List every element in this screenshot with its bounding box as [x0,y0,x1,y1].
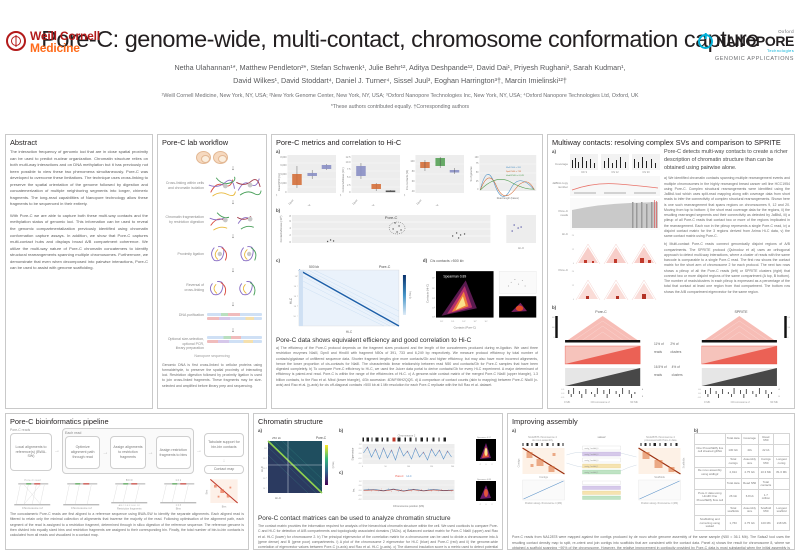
flow-arrow: ↓ [204,268,262,275]
panel-pipeline: Pore-C bioinformatics pipeline Pore-C re… [5,413,249,550]
workflow-step-label-4: DNA purification [162,309,204,318]
svg-text:Contigs: Contigs [539,475,548,479]
cell-3-3: 218 Mb [774,516,790,531]
flow-arrow: ↓ [204,200,262,207]
porec-x-label: Chromosome 2 [591,400,610,404]
svg-text:Contigs: Contigs [517,458,521,467]
multiway-caption-a: a) We identified chromatin contacts span… [664,176,790,239]
cell-1-0: 2,914 [725,467,741,478]
compartment-stats: 11% of reads 2% of clusters 16.5% of rea… [654,310,688,404]
svg-text:DpnII N50 = 733: DpnII N50 = 733 [506,171,522,173]
svg-text:-2: -2 [479,464,481,466]
chart-contact-correlation: d) Cis contacts >500 kb Spearman 0.89 [423,258,538,335]
chart-insulation-correlation: Spearman 0.88 -202 [470,470,498,510]
svg-text:3,000: 3,000 [788,327,790,329]
pipeline-box-5[interactable]: Contact map [204,465,244,474]
svg-text:HindIII: HindIII [368,204,375,206]
svg-text:Hi-C: Hi-C [346,330,353,334]
svg-text:Ins.: Ins. [353,488,356,492]
th-assembly-size-2: Assembly size [741,505,758,516]
svg-text:10⁻⁴: 10⁻⁴ [263,487,267,490]
pipeline-arrow-icon: → [54,428,60,474]
svg-text:A: A [642,388,644,391]
workflow-caption: Genomic DNA is first cross-linked to cel… [162,363,262,389]
row-label-2: Pore-C data using HindIII One ProvethEll… [695,490,726,505]
stat-sprite-B: 4% of clusters [672,363,688,380]
equal-contribution-note: *These authors contributed equally. †Cor… [0,104,800,110]
poster-header: Weill Cornell Medicine Oxford NANOPORE T… [0,26,800,134]
svg-text:-0.05: -0.05 [697,397,701,399]
th-blank-4 [774,479,790,490]
svg-text:8,000: 8,000 [280,156,287,159]
svg-text:10⁻³: 10⁻³ [263,477,267,480]
assembly-stats-table: Total data Coverage Read N50 One Proveth… [694,433,790,531]
author-list: Netha Ulahannan¹*, Matthew Pendleton²*, … [0,62,800,87]
multiway-caption-b: b) Multi-contact Pore-C reads connect ge… [664,242,790,295]
pipeline-arrow-icon: → [196,428,202,474]
jabba-track: JaBbA copy number 4020100 [552,176,660,196]
svg-text:Q-freq: Q-freq [408,291,412,299]
workflow-step: Cross-linking within cells and chromatin… [162,173,262,199]
svg-text:Q-freq: Q-freq [332,461,335,468]
svg-text:Chr 9: Chr 9 [581,171,588,174]
svg-text:1 2 1: 1 2 1 [175,478,181,482]
track-label-porec: Pore-C [552,268,568,302]
coverage-track: Coverage Chr 9Chr 12Chr 20 [552,154,660,174]
table-row: One ProvethEllfy live cell sheared gDNA … [695,445,790,456]
svg-text:Chromosome position (Mb): Chromosome position (Mb) [393,504,424,508]
svg-text:Contacts (Hi-C): Contacts (Hi-C) [425,284,429,303]
chromatin-title: Chromatin structure [254,414,502,428]
panel-chromatin: Chromatin structure a) 250 kb Pore-C [253,413,503,550]
table-header-row: Total data Read N50 Total contacts [695,479,790,490]
table-row: Pore-C data using HindIII One ProvethEll… [695,490,790,505]
svg-text:-0.05: -0.05 [561,397,565,399]
table-row: De novo assembly using wtdbg2 2,914 2.75… [695,467,790,478]
svg-text:6: 6 [289,219,291,223]
svg-text:Chr 12: Chr 12 [611,171,619,174]
svg-text:500 kb: 500 kb [309,265,319,269]
svg-text:10⁰: 10⁰ [295,275,298,278]
th-blank-5 [695,505,726,516]
pipeline-box-2[interactable]: Assign alignments to restriction fragmen… [110,436,145,469]
svg-text:3,000: 3,000 [552,327,555,329]
svg-text:12.5: 12.5 [346,156,351,159]
svg-text:2: 2 [492,504,493,506]
svg-text:0: 0 [788,337,790,339]
svg-text:4,000: 4,000 [280,173,287,176]
chart-read-n50: 02,0004,0006,0008,000 NlaIIIDpnIIHindIII… [276,154,337,206]
tangle-art [207,173,262,199]
flow-arrow: ↓ [204,302,262,309]
svg-text:DpnII: DpnII [352,199,358,206]
svg-text:Contacts/Gbase (10⁶): Contacts/Gbase (10⁶) [279,216,283,243]
cells-illustration [162,151,262,164]
th-coverage: Coverage [741,434,758,445]
svg-text:100: 100 [410,160,415,163]
svg-text:Hi-C: Hi-C [275,496,282,500]
svg-text:Read N50 (bp): Read N50 (bp) [277,173,281,191]
poster-row-bottom: Pore-C bioinformatics pipeline Pore-C re… [0,409,800,550]
th-total-data: Total data [725,434,741,445]
svg-text:salsa2: salsa2 [597,435,606,439]
svg-text:0.0: 0.0 [359,490,363,492]
svg-text:0: 0 [573,263,575,265]
sprite-x-label: Chromosome 2 [731,400,750,404]
svg-text:100: 100 [407,466,411,468]
svg-text:Position along chromosome 4 (M: Position along chromosome 4 (Mb) [641,502,678,505]
th-read-n50: Read N50 [758,434,773,445]
svg-text:6,000: 6,000 [280,164,287,167]
row-label-0: One ProvethEllfy live cell sheared gDNA [695,445,726,456]
loops-open-art [207,275,262,301]
svg-text:Spearman 0.88: Spearman 0.88 [477,479,492,481]
cornell-seal-icon [6,31,26,51]
flow-arrow: ↓ [204,328,262,335]
assembly-title: Improving assembly [508,414,794,428]
diagram-optimized-path: Chromosome ref [59,476,106,510]
nanopore-circle-icon [698,34,713,49]
svg-text:100: 100 [475,157,479,159]
svg-text:24: 24 [572,235,575,237]
chart-cis-contacts: 406080100 NlaIIIDpnIIHindIII Cis contact… [404,154,465,206]
th-blank-0 [695,434,726,445]
nanopore-reads-art [207,335,262,349]
svg-text:Pore-C: Pore-C [385,215,398,220]
svg-text:Pore-C read: Pore-C read [24,478,41,482]
flow-arrow: ↓ [204,166,262,173]
th-scaffold-n50: Scaffold N50 [758,505,773,516]
panel-abstract: Abstract The interaction frequency of ge… [5,134,153,409]
svg-text:75: 75 [476,163,479,165]
svg-text:Bins: Bins [175,507,181,511]
track-label-porec-reads: Pore-C reads [552,210,568,217]
svg-text:10⁵: 10⁵ [432,278,435,280]
svg-text:Scaffolds: Scaffolds [682,457,686,468]
pipeline-arrow-icon: → [148,436,154,469]
svg-text:Bins: Bins [206,489,209,494]
svg-text:B: B [779,396,781,398]
svg-text:25: 25 [476,181,479,183]
pipeline-box-4[interactable]: Tabulate support for bin-bin contacts [204,433,244,457]
svg-text:6,000: 6,000 [788,317,790,319]
svg-text:10¹: 10¹ [432,316,435,319]
track-label-coverage: Coverage [552,162,568,166]
svg-text:4: 4 [289,226,291,230]
res-label: 250 kb [272,436,281,440]
workflow-step: Optional size-selection, optional PCR, l… [162,335,262,351]
cell-2-1: 6.8 kb [741,490,758,505]
svg-text:Position along chromosome 4 (M: Position along chromosome 4 (Mb) [525,502,562,505]
metrics-row-cd: c) 500 kb Pore-C [276,258,538,335]
svg-text:0.6: 0.6 [359,448,363,450]
chromatin-caption-title: Pore-C contact matrices can be used to a… [258,515,498,522]
nanopore-name: NANOPORE [716,34,794,48]
workflow-step: Proximity ligation [162,241,262,267]
svg-text:10⁰: 10⁰ [440,320,443,323]
pipeline-each-read-label: Each read [65,431,191,435]
th-read-n50-2: Read N50 [741,479,758,490]
cell-3-1: 2.75 Gb [741,516,758,531]
weill-cornell-logo: Weill Cornell Medicine [6,30,100,54]
svg-text:7.5: 7.5 [347,168,351,171]
pipeline-box-1[interactable]: Optimize alignment path through read [65,436,100,469]
diagram-bins: 1 2 1 1 2 3 Bins [156,476,203,510]
chromatin-panel-a: a) 250 kb Pore-C [258,428,336,510]
metrics-caption: a) The efficiency of the Pore-C protocol… [276,346,538,388]
diagram-restriction-fragments: B F D A B C D E F G H I J K Restriction … [107,476,154,510]
svg-text:DpnII: DpnII [416,199,422,206]
workflow-step-label-0: Cross-linking within cells and chromatin… [162,181,204,190]
svg-text:DpnII: DpnII [288,199,294,206]
poster-row-top: Abstract The interaction frequency of ge… [0,134,800,409]
svg-text:NlaIII: NlaIII [404,193,406,200]
svg-text:Chromosome 2: Chromosome 2 [398,434,416,438]
pipeline-each-read-group: Each read Optimize alignment path throug… [62,428,194,474]
track-label-hic: Hi-C [552,232,568,266]
svg-text:0: 0 [349,191,351,194]
svg-text:5.0: 5.0 [347,176,351,179]
metrics-panel-letter-c: c) [276,258,280,263]
th-longest-contig: Longest contig [774,456,790,467]
workflow-step-label-2: Proximity ligation [162,252,204,257]
metrics-panel-letter-d: d) [423,258,427,263]
svg-text:0: 0 [486,464,487,466]
pipeline-diagrams: Pore-C read Chromosome ref Chrom [10,476,244,510]
svg-text:HindIII N50 = 6,249: HindIII N50 = 6,249 [506,175,525,177]
svg-text:2,000: 2,000 [280,182,287,185]
workflow-step-label-5: Optional size-selection, optional PCR, l… [162,335,204,351]
metrics-title: Pore-C metrics and correlation to Hi-C [272,135,542,149]
svg-text:10.0: 10.0 [346,161,351,164]
cell-0-1: 43x [741,445,758,456]
table-row: Scaffolding and correcting using salsa2 … [695,516,790,531]
pipeline-stage-local-align: Pore-C reads Local alignments to referen… [10,428,52,474]
loops-art [207,241,262,267]
svg-text:2: 2 [289,233,291,237]
svg-text:2.5: 2.5 [347,184,351,187]
metrics-caption-title: Pore-C data shows equivalent efficiency … [276,337,538,344]
workflow-diagram: ↓ Cross-linking within cells and chromat… [158,149,266,392]
svg-text:0: 0 [285,191,287,194]
svg-text:Hi-C: Hi-C [518,246,525,250]
multiway-text: Pore-C detects multi-way contacts to cre… [664,149,790,302]
row-label-1: De novo assembly using wtdbg2 [695,467,726,478]
svg-text:50: 50 [476,172,479,174]
chart-read-length-distribution: 0255075100 NlaIII N50 = 391DpnII N50 = 7… [468,154,538,206]
svg-text:10³: 10³ [473,320,476,323]
svg-text:10⁻²: 10⁻² [263,467,267,470]
panel-assembly: Improving assembly a) NA12878 chromosome… [507,413,795,550]
svg-text:Spearman 0.97: Spearman 0.97 [477,437,492,439]
svg-text:1.2: 1.2 [359,481,363,483]
svg-text:0.0: 0.0 [359,453,363,455]
svg-text:0.00: 0.00 [698,393,701,395]
chromatin-panels-bc: b) Chromosome 2 1.20.60.0-0.6-1.2 050100… [339,428,498,510]
metrics-d-title: Cis contacts >500 kb [430,259,463,263]
svg-text:0.05: 0.05 [698,389,701,391]
svg-text:12: 12 [572,249,575,251]
cell-3-0: 1,763 [725,516,741,531]
cell-2-3 [774,490,790,505]
stat-porec-B: 16.5% of reads [654,363,672,380]
assembly-panel-a: a) NA12878 chromosome 4 de novo assembly… [512,428,691,531]
svg-text:50: 50 [384,466,387,468]
diagram-porec-read: Pore-C read Chromosome ref [10,476,57,510]
svg-text:40: 40 [412,190,415,193]
svg-text:Spearman 0.89: Spearman 0.89 [443,275,466,279]
nanopore-logo: Oxford NANOPORE Technologies GENOMIC APP… [698,29,794,62]
cell-0-2: 22 kb [758,445,773,456]
svg-text:processed with Pore-C data: processed with Pore-C data [644,438,677,442]
th-longest-scaffold: Longest scaffold [774,505,790,516]
svg-text:12: 12 [572,285,575,287]
chart-contact-matrix-genome: c) 500 kb Pore-C [276,258,420,335]
cell-3-2: 100 Mb [758,516,773,531]
abstract-paragraph-2: With Pore-C we are able to capture both … [10,213,148,272]
porec-reads-pileup: Pore-C reads [552,198,660,230]
author-line-1: Netha Ulahannan¹*, Matthew Pendleton²*, … [0,62,800,75]
svg-text:10⁻¹: 10⁻¹ [263,457,267,460]
th-total-contacts: Total contacts [758,479,773,490]
pipeline-reads-label: Pore-C reads [10,428,52,432]
pipeline-title: Pore-C bioinformatics pipeline [6,414,248,428]
svg-text:0: 0 [553,337,555,339]
svg-text:6,000: 6,000 [552,317,555,319]
svg-text:10⁰: 10⁰ [264,447,267,450]
th-blank-3 [695,479,726,490]
cell-1-2: 10.3 Mb [758,467,773,478]
svg-text:10⁴: 10⁴ [432,288,435,290]
svg-text:0: 0 [289,240,291,244]
cell-0-0: 130 Gb [725,445,741,456]
svg-text:Restriction fragments: Restriction fragments [117,507,142,511]
page-title: Pore-C: genome-wide, multi-contact, chro… [0,26,800,53]
svg-text:Chromosome ref: Chromosome ref [70,506,91,510]
svg-text:2: 2 [492,464,493,466]
sprite-x-end: 90 Mb [770,400,778,404]
svg-text:-1.2: -1.2 [358,463,362,465]
svg-text:Contacts/Gbase (10⁶): Contacts/Gbase (10⁶) [341,167,345,192]
workflow-step-label-6: Nanopore sequencing [162,354,262,358]
pipeline-box-0[interactable]: Local alignments to reference(s) (BWA-SW… [10,433,52,471]
sprite-compartment-block: SPRITE 6,0003,0000 [692,310,790,404]
svg-text:Scaffolds: Scaffolds [654,475,665,479]
assembly-caption: Pore-C reads from NA12878 were mapped ag… [512,535,790,550]
cell-1-3: 81.6 Mb [774,467,790,478]
multiway-panel-a: a) Coverage Chr 9Chr 12Chr 20 JaB [552,149,660,302]
pipeline-caption: The concatameric Pore-C reads are first … [10,512,244,538]
cell-0-3 [774,445,790,456]
workflow-step: DNA purification [162,309,262,327]
svg-text:HindIII: HindIII [432,204,439,206]
pipeline-arrow-icon: → [102,436,108,469]
hic-disjoint-matrix: Hi-C 24120 [552,232,660,266]
cell-1-1: 2.75 Gb [741,467,758,478]
svg-text:10⁻⁴: 10⁻⁴ [293,315,298,318]
diagram-contact-map: Bins Bins [204,476,244,510]
svg-text:Pore-C: Pore-C [316,436,327,440]
porec-disjoint-matrix: Pore-C 24120 [552,268,660,302]
abstract-title: Abstract [6,135,152,149]
svg-text:10⁻³: 10⁻³ [294,305,299,308]
abstract-paragraph-1: The interaction frequency of genomic loc… [10,149,148,208]
svg-text:Bins: Bins [222,506,227,509]
svg-text:NlaIII: NlaIII [276,193,278,200]
svg-text:10¹: 10¹ [451,320,454,323]
svg-text:80: 80 [412,170,415,173]
workflow-title: Pore-C lab workflow [158,135,266,149]
workflow-step: Chromatin fragmentation by restriction d… [162,207,262,233]
svg-text:Chromosome ref: Chromosome ref [22,506,43,510]
svg-text:1.2: 1.2 [359,444,363,446]
svg-text:8: 8 [289,214,291,218]
author-line-2: David Wilkes¹, David Stoddart⁴, Daniel J… [0,75,800,88]
affiliations: ¹Weill Cornell Medicine, New York, NY, U… [0,92,800,101]
svg-text:150: 150 [430,466,434,468]
svg-text:0.05: 0.05 [561,389,564,391]
svg-text:Eigenvector: Eigenvector [352,447,355,460]
logo-line-2: Medicine [30,42,100,54]
panel-lab-workflow: Pore-C lab workflow ↓ Cross-linking with… [157,134,267,409]
svg-text:10⁴: 10⁴ [484,321,487,323]
svg-text:0.00: 0.00 [561,393,564,395]
pipeline-box-3[interactable]: Assign restriction fragments to bins [156,436,191,469]
table-header-row: Total contigs Assembly size Contigs N50 … [695,456,790,467]
panel-metrics: Pore-C metrics and correlation to Hi-C a… [271,134,543,409]
svg-text:Cis contacts (%): Cis contacts (%) [405,170,409,190]
svg-text:B F D: B F D [126,478,133,482]
assembly-panel-b: b) Total data Coverage Read N50 One Prov… [694,428,790,531]
porec-x-start: 0 Mb [564,400,570,404]
legend-porec: Pore-C [395,475,403,478]
th-total-data-2: Total data [725,479,741,490]
table-header-row: Total data Coverage Read N50 [695,434,790,445]
svg-text:10⁻²: 10⁻² [294,295,299,298]
svg-text:Contacts (Pore-C): Contacts (Pore-C) [454,326,476,330]
row-label-3: Scaffolding and correcting using salsa2 [695,516,726,531]
svg-text:10³: 10³ [432,297,435,300]
svg-text:0: 0 [362,466,364,468]
svg-text:-2: -2 [479,504,481,506]
porec-compartment-block: Pore-C 6,0003,0000 [552,310,650,404]
nanopore-tagline: GENOMIC APPLICATIONS [698,56,794,62]
track-label-jabba: JaBbA copy number [552,182,568,189]
svg-text:Pore-C: Pore-C [379,265,391,269]
th-assembly-size: Assembly size [741,456,758,467]
pipeline-down-arrow-icon: ↓ [204,459,244,463]
svg-text:% of genome: % of genome [470,166,473,182]
workflow-step-label-1: Chromatin fragmentation by restriction d… [162,215,204,224]
svg-text:10²: 10² [462,320,465,323]
svg-text:-0.6: -0.6 [358,495,362,497]
svg-text:HindIII: HindIII [304,204,311,206]
stat-porec-A: 11% of reads [654,340,670,357]
svg-text:0: 0 [486,504,487,506]
th-contigs-n50: Contigs N50 [758,456,773,467]
th-blank-1 [774,434,790,445]
svg-text:-0.6: -0.6 [358,458,362,460]
svg-text:-1.2: -1.2 [358,499,362,501]
panel-multiway: Multiway contacts: resolving complex SVs… [547,134,795,409]
workflow-step-label-3: Reversal of cross-linking [162,283,204,292]
svg-text:NlaIII N50 = 391: NlaIII N50 = 391 [506,167,522,169]
multiway-panel-b: b) Pore-C 6,0003,0000 [548,305,794,406]
svg-text:Hi-C: Hi-C [289,297,293,304]
th-blank-2 [695,456,726,467]
svg-text:A: A [779,388,781,391]
svg-text:B: B [642,396,644,398]
